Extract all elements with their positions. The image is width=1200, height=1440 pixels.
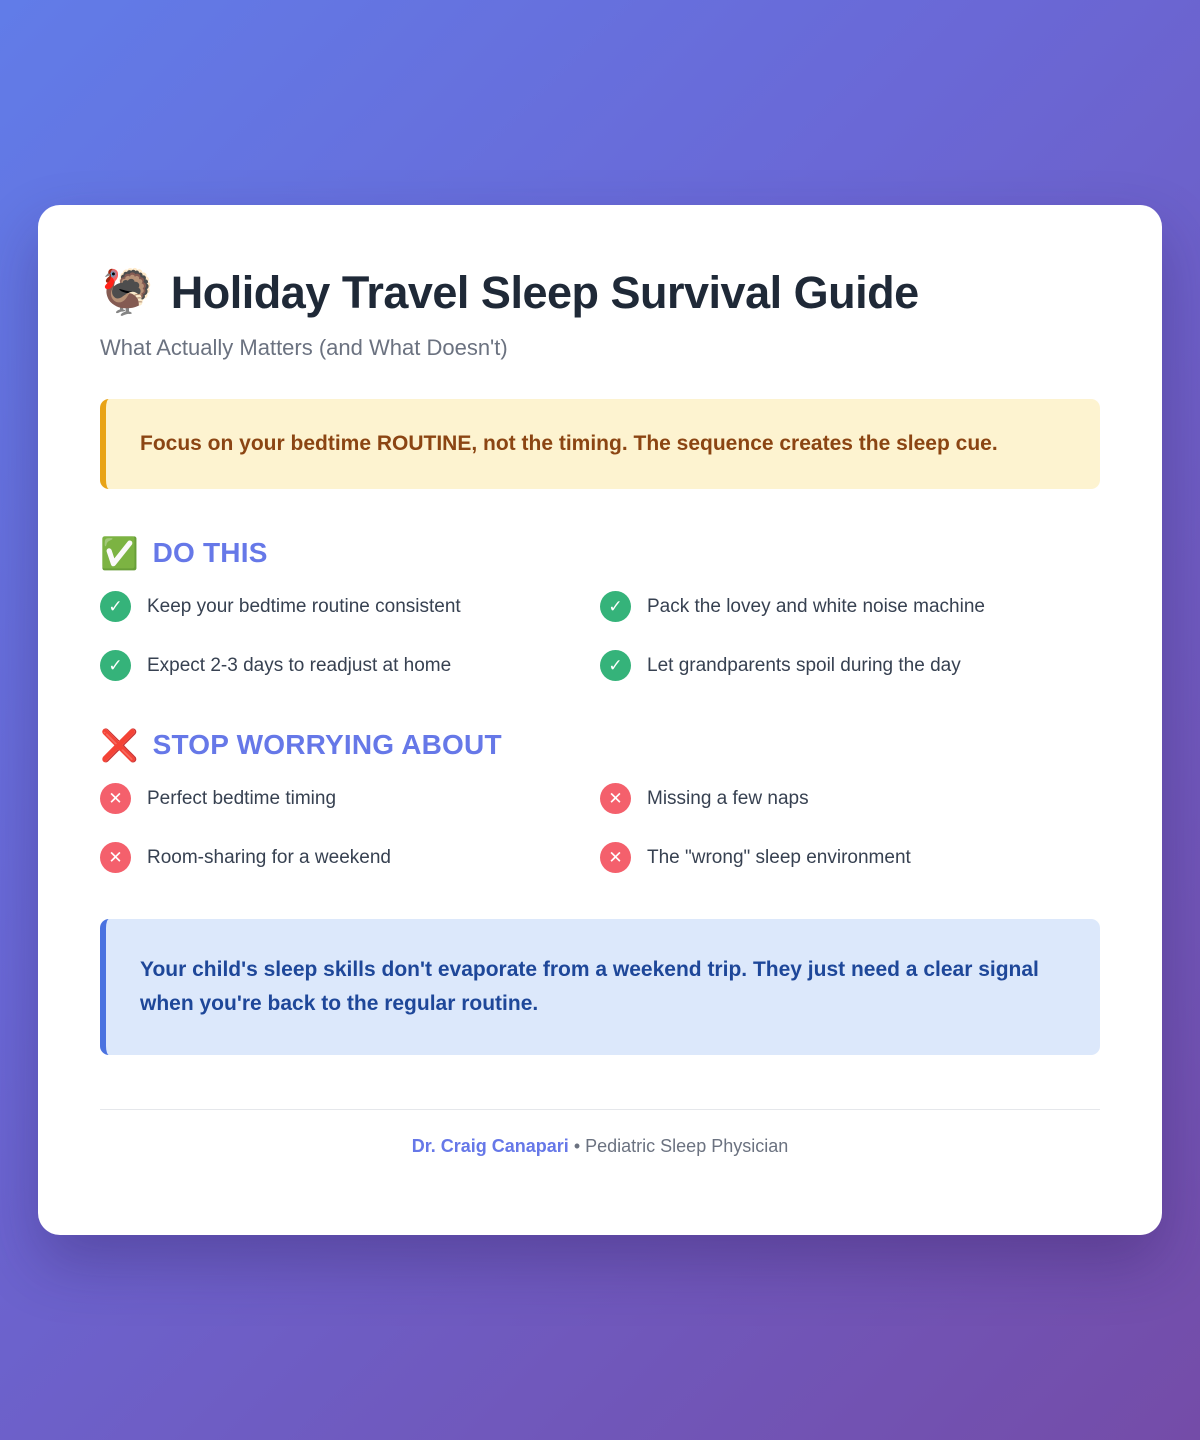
list-item-label: Room-sharing for a weekend [147,847,391,869]
list-item-label: Keep your bedtime routine consistent [147,596,461,618]
footer-author-name: Dr. Craig Canapari [412,1136,569,1156]
page-title: Holiday Travel Sleep Survival Guide [171,267,919,319]
key-callout: Focus on your bedtime ROUTINE, not the t… [100,399,1100,489]
list-item: ✕ Room-sharing for a weekend [100,842,600,873]
list-item: ✕ Perfect bedtime timing [100,783,600,814]
do-section-title: DO THIS [153,537,268,569]
stop-section-header: ❌ STOP WORRYING ABOUT [100,729,1100,761]
reassurance-callout: Your child's sleep skills don't evaporat… [100,919,1100,1055]
guide-card: 🦃 Holiday Travel Sleep Survival Guide Wh… [38,205,1162,1235]
stop-item-grid: ✕ Perfect bedtime timing ✕ Missing a few… [100,783,1100,873]
check-circle-icon: ✓ [600,650,631,681]
page-title-row: 🦃 Holiday Travel Sleep Survival Guide [100,267,1100,319]
list-item: ✓ Pack the lovey and white noise machine [600,591,1100,622]
stop-section-title: STOP WORRYING ABOUT [153,729,502,761]
list-item-label: Perfect bedtime timing [147,788,336,810]
turkey-emoji: 🦃 [100,271,155,315]
cross-mark-icon: ❌ [100,730,139,761]
check-circle-icon: ✓ [600,591,631,622]
cross-circle-icon: ✕ [600,842,631,873]
list-item-label: Let grandparents spoil during the day [647,655,961,677]
key-callout-text: Focus on your bedtime ROUTINE, not the t… [140,429,998,458]
cross-circle-icon: ✕ [600,783,631,814]
list-item: ✕ Missing a few naps [600,783,1100,814]
footer: Dr. Craig Canapari • Pediatric Sleep Phy… [100,1136,1100,1157]
do-section-header: ✅ DO THIS [100,537,1100,569]
cross-circle-icon: ✕ [100,842,131,873]
footer-author-role: • Pediatric Sleep Physician [574,1136,788,1156]
do-item-grid: ✓ Keep your bedtime routine consistent ✓… [100,591,1100,681]
cross-circle-icon: ✕ [100,783,131,814]
check-mark-button-icon: ✅ [100,538,139,569]
list-item: ✕ The "wrong" sleep environment [600,842,1100,873]
list-item-label: Expect 2-3 days to readjust at home [147,655,451,677]
reassurance-callout-text: Your child's sleep skills don't evaporat… [140,953,1066,1021]
page-subtitle: What Actually Matters (and What Doesn't) [100,335,1100,361]
list-item: ✓ Let grandparents spoil during the day [600,650,1100,681]
list-item-label: The "wrong" sleep environment [647,847,911,869]
list-item-label: Pack the lovey and white noise machine [647,596,985,618]
check-circle-icon: ✓ [100,650,131,681]
list-item-label: Missing a few naps [647,788,809,810]
check-circle-icon: ✓ [100,591,131,622]
list-item: ✓ Expect 2-3 days to readjust at home [100,650,600,681]
list-item: ✓ Keep your bedtime routine consistent [100,591,600,622]
footer-divider [100,1109,1100,1110]
